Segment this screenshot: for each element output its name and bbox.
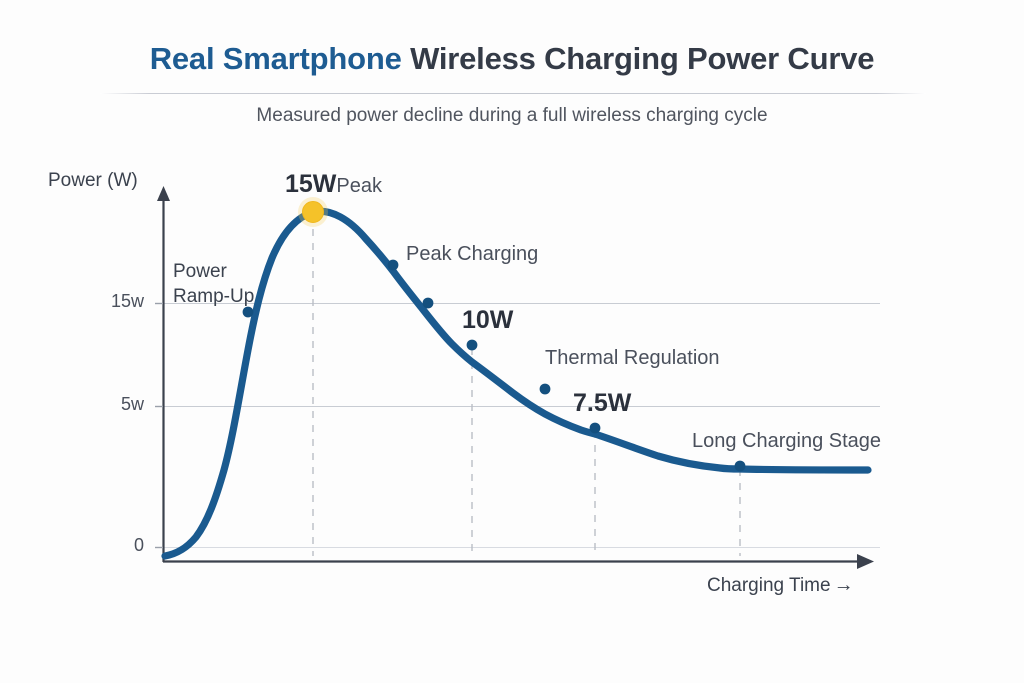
data-point-peak-charging-a[interactable]	[388, 260, 399, 271]
peak-dot-marker[interactable]	[303, 202, 324, 223]
y-tick-label-15w: 15w	[96, 291, 144, 312]
data-point-10w[interactable]	[467, 340, 478, 351]
annotation-10w: 10W	[462, 306, 513, 335]
annotation-long-charging-stage: Long Charging Stage	[692, 430, 881, 453]
annotation-thermal-regulation: Thermal Regulation	[545, 347, 720, 370]
annotation-power-ramp-up-line2: Ramp-Up	[173, 285, 254, 310]
data-point-peak-charging-b[interactable]	[423, 298, 434, 309]
plot-area: Power (W) Charging Time→ 15w 5w 0 Power …	[0, 0, 1024, 683]
x-axis-label: Charging Time→	[707, 574, 854, 597]
y-tick-label-5w: 5w	[96, 394, 144, 415]
annotation-peak-value: 15W	[285, 170, 336, 198]
y-tick-label-0: 0	[96, 535, 144, 556]
annotation-10w-value: 10W	[462, 306, 513, 334]
marker-layer	[0, 0, 1024, 683]
data-point-long-stage[interactable]	[735, 461, 746, 472]
annotation-7-5w: 7.5W	[573, 389, 631, 418]
annotation-peak: 15WPeak	[285, 170, 382, 199]
y-axis-label: Power (W)	[48, 170, 138, 192]
annotation-peak-word: Peak	[336, 175, 382, 197]
annotation-power-ramp-up-line1: Power	[173, 260, 254, 285]
x-axis-label-text: Charging Time	[707, 575, 831, 596]
annotation-7-5w-value: 7.5W	[573, 389, 631, 417]
data-point-7-5w[interactable]	[590, 423, 601, 434]
chart-canvas: Real Smartphone Wireless Charging Power …	[0, 0, 1024, 683]
annotation-power-ramp-up: Power Ramp-Up	[173, 260, 254, 309]
data-point-thermal[interactable]	[540, 384, 551, 395]
arrow-right-icon: →	[834, 574, 854, 596]
annotation-peak-charging: Peak Charging	[406, 243, 538, 266]
